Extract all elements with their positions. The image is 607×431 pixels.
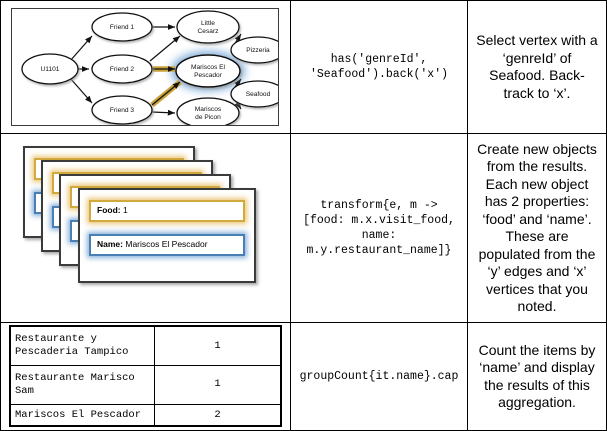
- description-cell-row2: Create new objects from the results. Eac…: [468, 134, 606, 322]
- node-label-mariscos-b: Pescador: [194, 72, 223, 79]
- node-label-u1101: U1101: [41, 66, 60, 73]
- description-cell-row1: Select vertex with a ‘genreId’ of Seafoo…: [468, 1, 606, 133]
- result-card-front: Food: 1 Name: Mariscos El Pescador: [78, 188, 256, 283]
- table-row: U1101 Friend 1 Friend 2 Friend 3 Little …: [1, 1, 606, 134]
- graph-visual-cell: U1101 Friend 1 Friend 2 Friend 3 Little …: [1, 1, 291, 133]
- code-snippet-transform: transform{e, m -> [food: m.x.visit_food,…: [297, 198, 461, 258]
- card-field-food: Food: 1: [89, 200, 245, 222]
- result-name-2: Mariscos El Pescador: [11, 404, 155, 425]
- node-label-little-b: Cesarz: [198, 28, 219, 35]
- node-label-pizzeria: Pizzeria: [246, 47, 270, 54]
- node-label-friend3: Friend 3: [110, 107, 135, 114]
- cards-visual-cell: Food: 1 Name: Mariscos El Pescador: [1, 134, 291, 322]
- code-cell-row3: groupCount{it.name}.cap: [291, 323, 468, 430]
- card-food-value: 1: [123, 205, 128, 215]
- result-count-1: 1: [155, 365, 281, 404]
- node-label-mariscos-a: Mariscos El: [191, 64, 226, 71]
- graph-nodes: [22, 11, 278, 125]
- code-cell-row2: transform{e, m -> [food: m.x.visit_food,…: [291, 134, 468, 322]
- node-label-little-a: Little: [201, 20, 215, 27]
- description-text-row3: Count the items by ‘name’ and display th…: [468, 342, 606, 412]
- node-label-seafood: Seafood: [246, 91, 271, 98]
- card-field-name: Name: Mariscos El Pescador: [89, 234, 245, 256]
- table-row: Restaurante y Pescaderia Tampico 1 Resta…: [1, 323, 606, 430]
- result-count-2: 2: [155, 404, 281, 425]
- node-label-picon-a: Mariscos: [195, 106, 222, 113]
- graph-diagram: U1101 Friend 1 Friend 2 Friend 3 Little …: [11, 8, 279, 126]
- table-row: Food: 1 Name: Mariscos El Pescador trans…: [1, 134, 606, 323]
- result-name-1: Restaurante Marisco Sam: [11, 365, 155, 404]
- node-label-friend2: Friend 2: [110, 66, 135, 73]
- code-snippet-has-back: has('genreId', 'Seafood').back('x'): [304, 52, 454, 82]
- description-text-row1: Select vertex with a ‘genreId’ of Seafoo…: [468, 32, 606, 102]
- card-food-key: Food:: [97, 205, 121, 215]
- code-snippet-groupcount: groupCount{it.name}.cap: [294, 369, 465, 384]
- card-name-key: Name:: [97, 239, 123, 249]
- table-row: Restaurante y Pescaderia Tampico 1: [11, 327, 281, 366]
- description-cell-row3: Count the items by ‘name’ and display th…: [468, 323, 606, 430]
- description-text-row2: Create new objects from the results. Eac…: [468, 141, 606, 316]
- card-name-value: Mariscos El Pescador: [125, 239, 207, 249]
- result-name-0: Restaurante y Pescaderia Tampico: [11, 327, 155, 366]
- group-count-results-table: Restaurante y Pescaderia Tampico 1 Resta…: [9, 325, 282, 427]
- result-object-stack: Food: 1 Name: Mariscos El Pescador: [1, 134, 291, 323]
- table-row: Mariscos El Pescador 2: [11, 404, 281, 425]
- figure-table: U1101 Friend 1 Friend 2 Friend 3 Little …: [0, 0, 607, 431]
- result-count-0: 1: [155, 327, 281, 366]
- node-label-picon-b: de Picon: [195, 114, 221, 121]
- results-table-cell: Restaurante y Pescaderia Tampico 1 Resta…: [1, 323, 291, 430]
- table-row: Restaurante Marisco Sam 1: [11, 365, 281, 404]
- code-cell-row1: has('genreId', 'Seafood').back('x'): [291, 1, 468, 133]
- node-label-friend1: Friend 1: [110, 24, 135, 31]
